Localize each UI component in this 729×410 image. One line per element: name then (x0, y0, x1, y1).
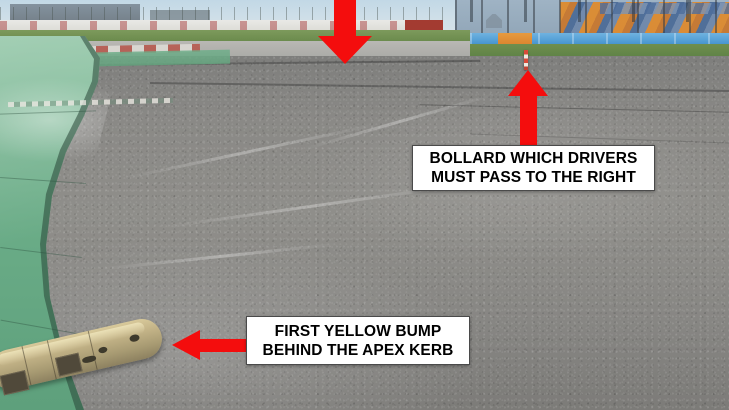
callout-bump-line-2: BEHIND THE APEX KERB (263, 341, 454, 360)
arrow-shaft (334, 0, 356, 42)
arrow-shaft (197, 339, 250, 352)
callout-bump-line-1: FIRST YELLOW BUMP (275, 322, 442, 341)
callout-bump: FIRST YELLOW BUMP BEHIND THE APEX KERB (246, 316, 470, 365)
arrow-shaft (520, 92, 537, 146)
track-limit-arrow-icon (318, 0, 372, 64)
bollard-arrow-icon (508, 70, 548, 146)
arrow-head (318, 36, 372, 64)
bollard-post (524, 50, 528, 70)
bump-arrow-icon (172, 330, 250, 360)
annotated-track-photo: BOLLARD WHICH DRIVERS MUST PASS TO THE R… (0, 0, 729, 410)
callout-bollard-line-1: BOLLARD WHICH DRIVERS (430, 149, 638, 168)
bump-slot (0, 370, 29, 395)
arrow-head (172, 330, 200, 360)
grandstand-roof-posts (470, 0, 729, 22)
callout-bollard: BOLLARD WHICH DRIVERS MUST PASS TO THE R… (412, 145, 655, 191)
catch-fence (0, 7, 470, 21)
callout-bollard-line-2: MUST PASS TO THE RIGHT (431, 168, 636, 187)
